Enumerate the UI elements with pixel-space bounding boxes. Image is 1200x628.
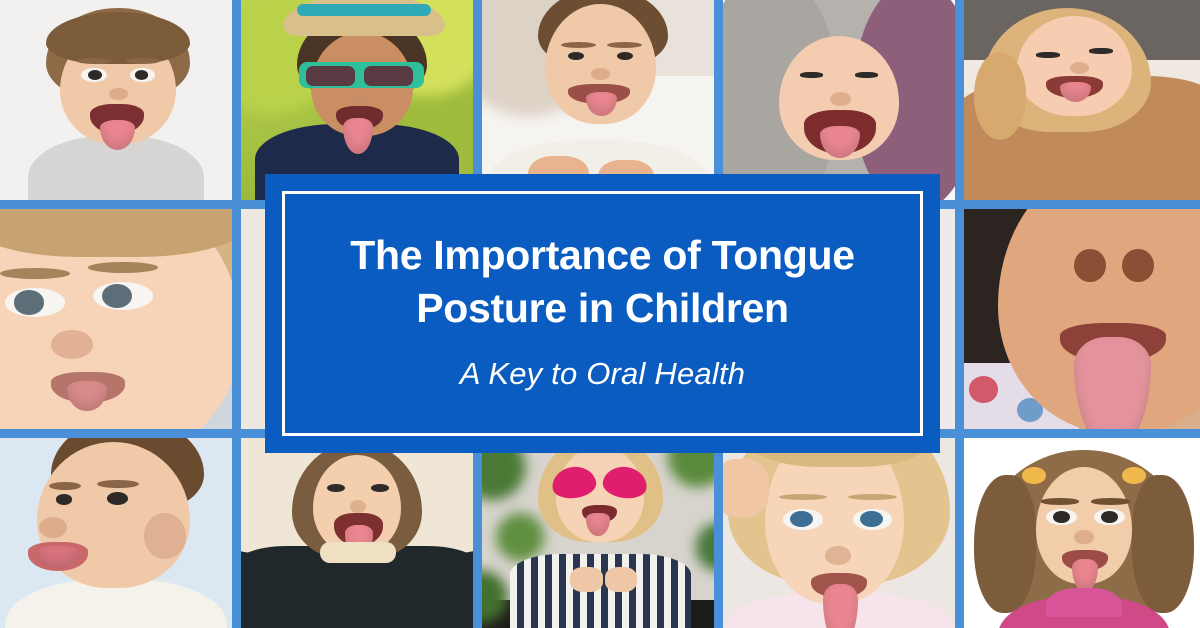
photo-r2c5: [964, 209, 1200, 429]
photo-r3c2: [241, 438, 473, 628]
page-subtitle: A Key to Oral Health: [460, 356, 745, 392]
photo-r1c4: [723, 0, 955, 200]
photo-r1c5: [964, 0, 1200, 200]
photo-r1c2: [241, 0, 473, 200]
photo-r3c1: [0, 438, 232, 628]
photo-r3c5: [964, 438, 1200, 628]
photo-r3c4: [723, 438, 955, 628]
title-card-inner-border: The Importance of Tongue Posture in Chil…: [282, 191, 923, 436]
photo-r3c3: [482, 438, 714, 628]
photo-r1c3: [482, 0, 714, 200]
page-title: The Importance of Tongue Posture in Chil…: [318, 229, 888, 334]
photo-r2c1: [0, 209, 232, 429]
photo-r1c1: [0, 0, 232, 200]
banner: The Importance of Tongue Posture in Chil…: [0, 0, 1200, 628]
title-card: The Importance of Tongue Posture in Chil…: [265, 174, 940, 453]
